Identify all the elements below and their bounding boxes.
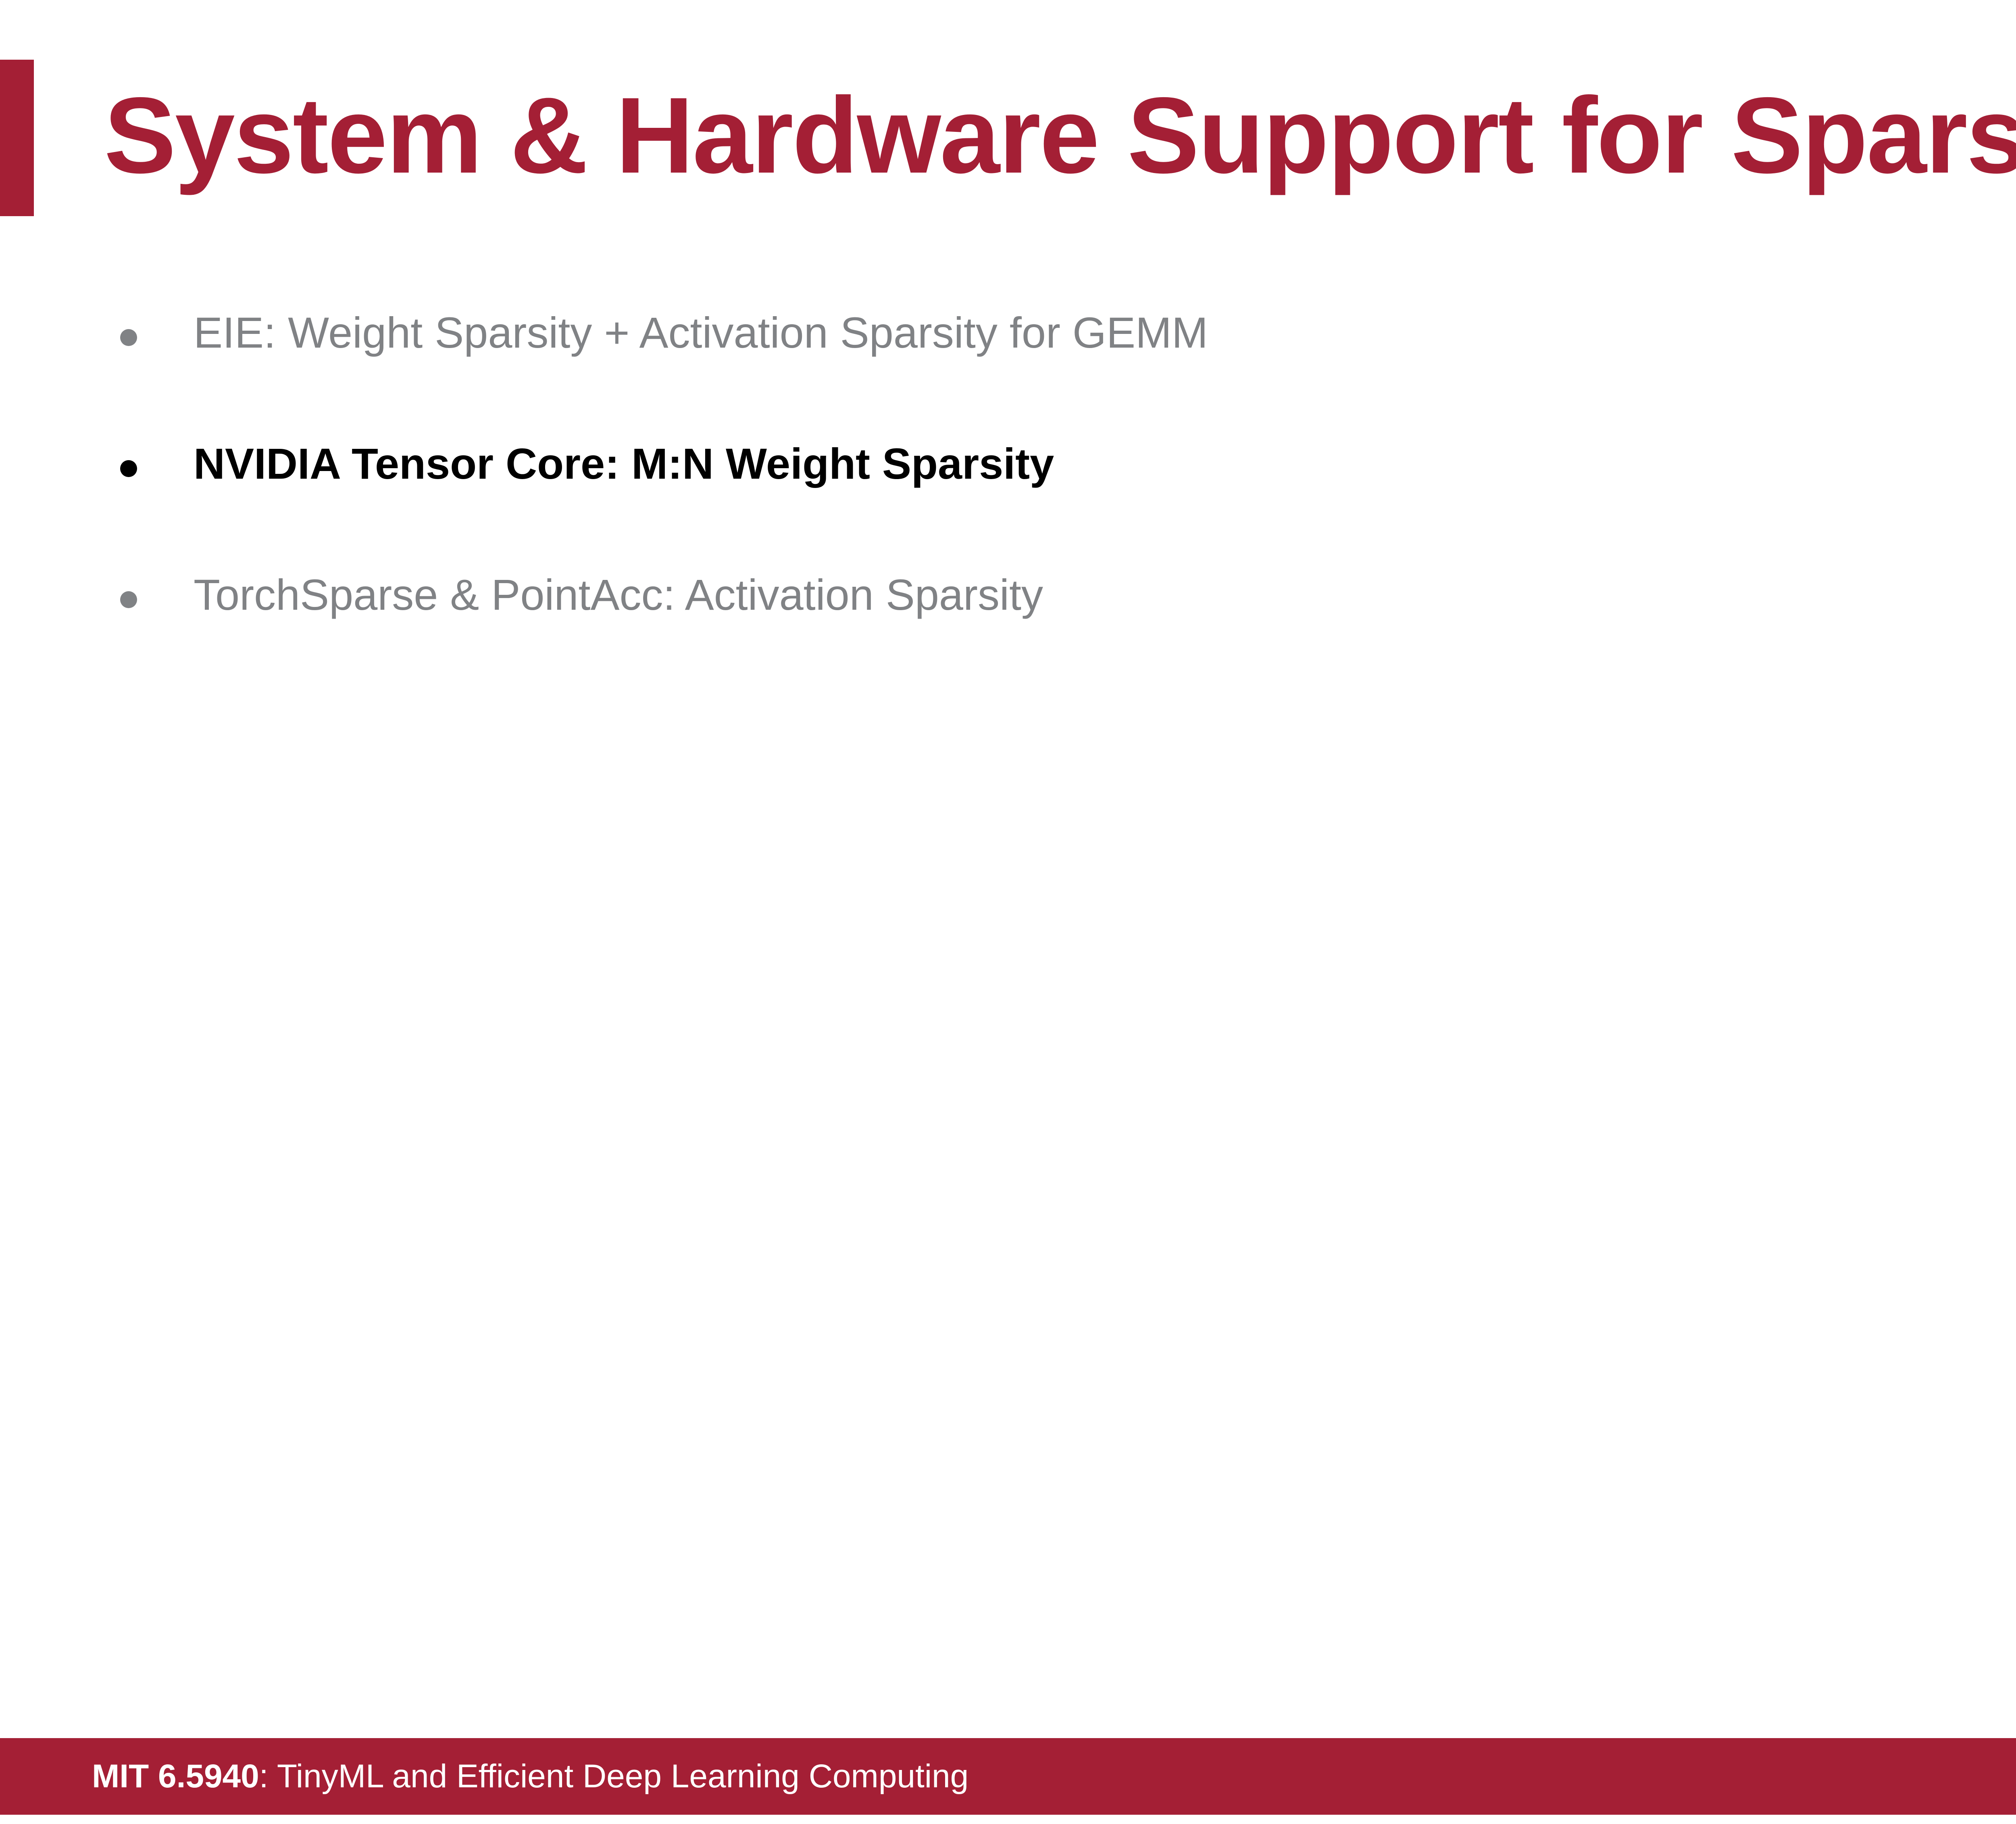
slide-canvas: System & Hardware Support for Sparsity E… <box>0 0 2016 1815</box>
list-item-label: TorchSparse & PointAcc: Activation Spars… <box>194 569 2016 621</box>
list-item-label: NVIDIA Tensor Core: M:N Weight Sparsity <box>194 438 2016 490</box>
bullet-dot-icon <box>120 329 137 346</box>
page-title: System & Hardware Support for Sparsity <box>104 56 2016 214</box>
footer-course-name: : TinyML and Efficient Deep Learning Com… <box>259 1758 968 1795</box>
footer-course-code: MIT 6.5940 <box>92 1758 259 1795</box>
footer-bar: MIT 6.5940: TinyML and Efficient Deep Le… <box>0 1738 2016 1815</box>
list-item[interactable]: EIE: Weight Sparsity + Activation Sparsi… <box>105 306 2016 438</box>
bullet-dot-icon <box>120 460 137 477</box>
list-item-label: EIE: Weight Sparsity + Activation Sparsi… <box>194 306 2016 359</box>
footer-course-info: MIT 6.5940: TinyML and Efficient Deep Le… <box>92 1738 968 1815</box>
list-item[interactable]: NVIDIA Tensor Core: M:N Weight Sparsity <box>105 438 2016 569</box>
bullet-dot-icon <box>120 591 137 608</box>
bullet-list: EIE: Weight Sparsity + Activation Sparsi… <box>105 306 2016 700</box>
list-item[interactable]: TorchSparse & PointAcc: Activation Spars… <box>105 569 2016 700</box>
title-accent-bar <box>0 60 34 216</box>
slide-title-row: System & Hardware Support for Sparsity <box>0 56 2016 218</box>
